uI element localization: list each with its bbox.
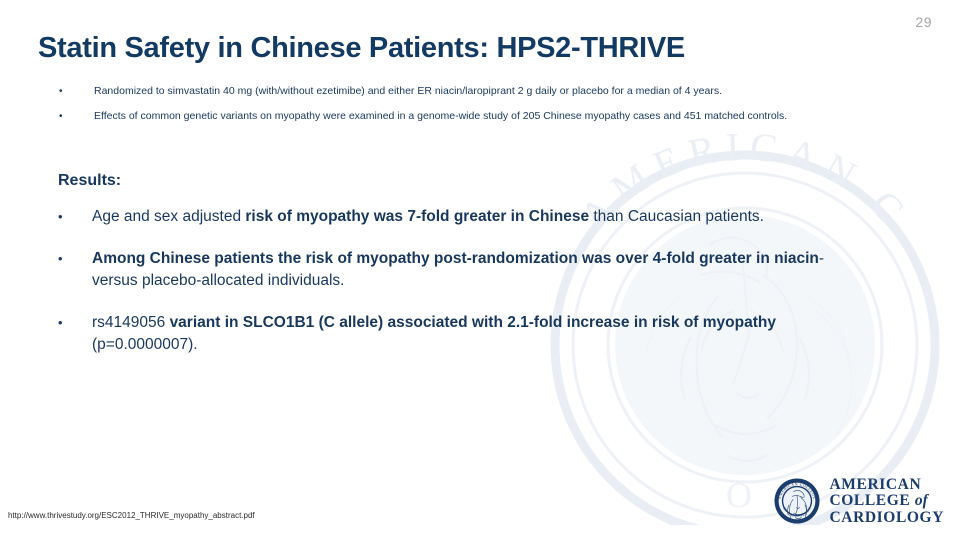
source-url[interactable]: http://www.thrivestudy.org/ESC2012_THRIV… (8, 511, 255, 520)
list-item-text: Age and sex adjusted risk of myopathy wa… (92, 208, 764, 225)
bullet-dot-icon: • (58, 248, 63, 270)
acc-logo-line-3: CARDIOLOGY (829, 510, 944, 527)
list-item-text: Among Chinese patients the risk of myopa… (92, 250, 824, 289)
list-item: • Age and sex adjusted risk of myopathy … (56, 206, 856, 228)
slide-canvas: AMERICAN C O (0, 0, 960, 540)
results-bullet-list: • Age and sex adjusted risk of myopathy … (56, 206, 856, 378)
american-college-of-cardiology-logo: AMERICAN COLLEGE OF CARDIOLOGY AMERICAN … (774, 477, 944, 527)
list-item: • Among Chinese patients the risk of myo… (56, 248, 856, 292)
acc-logo-of: of (915, 492, 928, 509)
emphasis-text: variant in SLCO1B1 (C allele) associated… (170, 314, 776, 331)
list-item: • Effects of common genetic variants on … (56, 109, 871, 125)
list-item-text: rs4149056 variant in SLCO1B1 (C allele) … (92, 314, 776, 353)
svg-text:O: O (726, 475, 764, 515)
bullet-dot-icon: • (58, 312, 63, 334)
bullet-dot-icon: • (59, 84, 63, 100)
list-item: • Randomized to simvastatin 40 mg (with/… (56, 84, 871, 100)
emphasis-text: risk of myopathy was 7-fold greater in C… (245, 208, 589, 225)
bullet-dot-icon: • (59, 109, 63, 125)
acc-seal-icon: AMERICAN COLLEGE OF CARDIOLOGY (774, 478, 820, 524)
acc-logo-wordmark: AMERICAN COLLEGE of CARDIOLOGY (829, 477, 944, 527)
intro-bullet-list: • Randomized to simvastatin 40 mg (with/… (56, 84, 871, 133)
emphasis-text: Among Chinese patients the risk of myopa… (92, 250, 819, 267)
plain-text: than Caucasian patients. (589, 208, 764, 225)
acc-logo-line-2: COLLEGE of (829, 493, 944, 510)
plain-text: (p=0.0000007). (92, 336, 198, 353)
results-heading: Results: (58, 172, 121, 190)
list-item-text: Randomized to simvastatin 40 mg (with/wi… (94, 85, 722, 97)
page-number: 29 (915, 14, 932, 30)
list-item: • rs4149056 variant in SLCO1B1 (C allele… (56, 312, 856, 356)
plain-text: Age and sex adjusted (92, 208, 245, 225)
bullet-dot-icon: • (58, 206, 63, 228)
acc-logo-college: COLLEGE (829, 492, 914, 509)
plain-text: rs4149056 (92, 314, 170, 331)
acc-logo-line-1: AMERICAN (829, 477, 944, 494)
page-title: Statin Safety in Chinese Patients: HPS2-… (38, 32, 685, 65)
list-item-text: Effects of common genetic variants on my… (94, 110, 787, 122)
